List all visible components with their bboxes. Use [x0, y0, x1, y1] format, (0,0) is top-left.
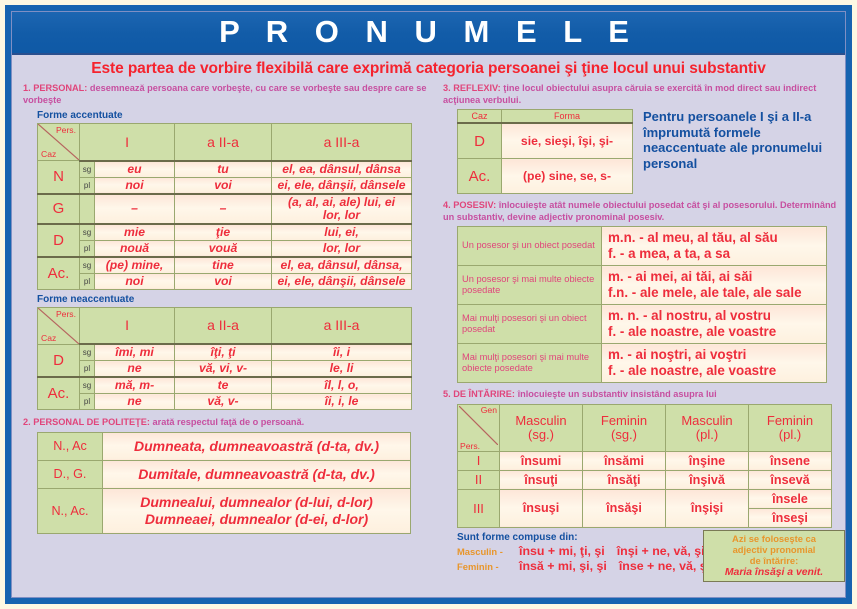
case-label: N., Ac — [38, 432, 103, 460]
case-label: D — [38, 344, 80, 377]
cell-value: – — [175, 194, 272, 224]
person-label: I — [458, 451, 500, 470]
table-row: Ac.sg(pe) mine,tineel, ea, dânsul, dânsa… — [38, 257, 412, 274]
cell-value: însuţi — [500, 470, 583, 489]
table-row: Un posesor şi un obiect posedatm.n. - al… — [458, 227, 827, 266]
table-forme-neaccentuate: Pers.CazIa II-aa III-aDsgîmi, miîţi, ţiî… — [37, 307, 412, 411]
table-row: plnevă, v-îi, i, le — [38, 394, 412, 410]
cell-value: înşivă — [666, 470, 749, 489]
compound-forms-block: Sunt forme compuse din: Masculin -însu +… — [457, 532, 845, 573]
cell-value: îi, i, le — [272, 394, 412, 410]
header-gender-2: Masculin(pl.) — [666, 404, 749, 451]
section-5-heading: 5. DE ÎNTĂRIRE: înlocuieşte un substanti… — [443, 389, 845, 401]
table-corner-cell: Pers.Caz — [38, 124, 80, 161]
table-header-row: GenPers.Masculin(sg.)Feminin(sg.)Masculi… — [458, 404, 832, 451]
case-label: N., Ac. — [38, 488, 103, 533]
cell-value: însele — [749, 489, 832, 508]
case-label: D — [458, 123, 502, 159]
table-row: IIînsuţiînsăţiînşivăînsevă — [458, 470, 832, 489]
section-2-number: 2. — [23, 417, 31, 427]
section-5-description: înlocuieşte un substantiv insistând asup… — [518, 389, 717, 399]
cell-value: Dumnealui, dumnealor (d-lui, d-lor)Dumne… — [103, 488, 411, 533]
table-posesiv: Un posesor şi un obiect posedatm.n. - al… — [457, 226, 827, 383]
cell-value: înşine — [666, 451, 749, 470]
table-row: Mai mulţi posesori şi mai multe obiecte … — [458, 344, 827, 383]
usage-note-example: Maria însăşi a venit. — [706, 567, 842, 578]
cell-value: mă, m- — [95, 377, 175, 394]
cell-value: tine — [175, 257, 272, 274]
header-gender-1: Feminin(sg.) — [583, 404, 666, 451]
cell-value: tu — [175, 161, 272, 178]
table-row: Ac.(pe) sine, se, s- — [458, 159, 633, 194]
cell-value: (a, al, ai, ale) lui, eilor, lor — [272, 194, 412, 224]
section-2-description: arată respectul faţă de o persoană. — [153, 417, 305, 427]
table-row: plnouăvouălor, lor — [38, 240, 412, 257]
table-row: Dsgmieţielui, ei, — [38, 224, 412, 241]
possessor-label: Un posesor şi un obiect posedat — [458, 227, 602, 266]
poster: P R O N U M E L E Este partea de vorbire… — [5, 5, 852, 604]
table-row: Mai mulţi posesori şi un obiect posedatm… — [458, 305, 827, 344]
cell-value: te — [175, 377, 272, 394]
section-2-heading: 2. PERSONAL DE POLITEŢE: arată respectul… — [23, 417, 435, 429]
cell-value: lor, lor — [272, 240, 412, 257]
cell-value: însămi — [583, 451, 666, 470]
cell-value: m. - ai mei, ai tăi, ai săif.n. - ale me… — [602, 266, 827, 305]
cell-value: m. n. - al nostru, al vostruf. - ale noa… — [602, 305, 827, 344]
section-4-number: 4. — [443, 200, 451, 210]
number-label: pl — [80, 177, 95, 194]
usage-note-line-2: de întărire: — [706, 555, 842, 566]
header-pers-1: I — [80, 307, 175, 344]
table-corner-cell: Pers.Caz — [38, 307, 80, 344]
section-5-number: 5. — [443, 389, 451, 399]
number-label: pl — [80, 361, 95, 378]
table-row: Dsie, sieşi, îşi, şi- — [458, 123, 633, 159]
cell-value: le, li — [272, 361, 412, 378]
cell-value: însuşi — [500, 489, 583, 527]
person-label: III — [458, 489, 500, 527]
possessor-label: Mai mulţi posesori şi un obiect posedat — [458, 305, 602, 344]
section-2-name: PERSONAL DE POLITEŢE: — [33, 417, 150, 427]
cell-value: ei, ele, dânşii, dânsele — [272, 273, 412, 289]
case-label: Ac. — [38, 377, 80, 410]
cell-value: m.n. - al meu, al tău, al săuf. - a mea,… — [602, 227, 827, 266]
cell-value: sie, sieşi, îşi, şi- — [502, 123, 633, 159]
content-columns: 1. PERSONAL: desemnează persoana care vo… — [11, 83, 846, 598]
number-label — [80, 194, 95, 224]
cell-value: ne — [95, 394, 175, 410]
case-label: Ac. — [458, 159, 502, 194]
compound-form-2: înşi + ne, vă, şi — [617, 544, 705, 558]
cell-value: eu — [95, 161, 175, 178]
section-1-number: 1. — [23, 83, 31, 93]
cell-value: însene — [749, 451, 832, 470]
header-pers-3: a III-a — [272, 307, 412, 344]
table-row: Dsgîmi, miîţi, ţiîi, i — [38, 344, 412, 361]
table-personal-politete: N., AcDumneata, dumneavoastră (d-ta, dv.… — [37, 432, 411, 534]
cell-value: (pe) sine, se, s- — [502, 159, 633, 194]
usage-note-box: Azi se foloseşte ca adjectiv pronomial d… — [703, 530, 845, 583]
table-row: D., G.Dumitale, dumneavoastră (d-ta, dv.… — [38, 460, 411, 488]
caption-forme-accentuate: Forme accentuate — [37, 110, 435, 121]
cell-value: voi — [175, 177, 272, 194]
cell-value: înseşi — [749, 508, 832, 527]
section-3-number: 3. — [443, 83, 451, 93]
left-column: 1. PERSONAL: desemnează persoana care vo… — [23, 83, 435, 534]
table-de-intarire: GenPers.Masculin(sg.)Feminin(sg.)Masculi… — [457, 404, 832, 528]
section-4-description: înlocuieşte atât numele obiectului posed… — [443, 200, 836, 222]
cell-value: îţi, ţi — [175, 344, 272, 361]
number-label: sg — [80, 161, 95, 178]
cell-value: însăţi — [583, 470, 666, 489]
cell-value: noi — [95, 273, 175, 289]
cell-value: îmi, mi — [95, 344, 175, 361]
cell-value: ne — [95, 361, 175, 378]
case-label: N — [38, 161, 80, 194]
number-label: sg — [80, 257, 95, 274]
cell-value: – — [95, 194, 175, 224]
number-label: pl — [80, 273, 95, 289]
case-label: D., G. — [38, 460, 103, 488]
poster-title-bar: P R O N U M E L E — [11, 11, 846, 55]
number-label: sg — [80, 377, 95, 394]
compound-gender: Masculin - — [457, 546, 519, 557]
section-1-heading: 1. PERSONAL: desemnează persoana care vo… — [23, 83, 435, 106]
right-column: 3. REFLEXIV: ţine locul obiectului asupr… — [443, 83, 845, 573]
case-label: D — [38, 224, 80, 257]
compound-form-1: însu + mi, ţi, şi — [519, 544, 605, 558]
section-4-name: POSESIV: — [453, 200, 496, 210]
cell-value: el, ea, dânsul, dânsa — [272, 161, 412, 178]
table-row: Ac.sgmă, m-teîl, l, o, — [38, 377, 412, 394]
header-forma: Forma — [502, 110, 633, 124]
table-header-row: Pers.CazIa II-aa III-a — [38, 124, 412, 161]
compound-form-1: însă + mi, şi, şi — [519, 559, 607, 573]
section-1-name: PERSONAL: — [33, 83, 87, 93]
table-row: IIIînsuşiînsăşiînşişiînsele — [458, 489, 832, 508]
table-row: N., Ac.Dumnealui, dumnealor (d-lui, d-lo… — [38, 488, 411, 533]
cell-value: însevă — [749, 470, 832, 489]
possessor-label: Mai mulţi posesori şi mai multe obiecte … — [458, 344, 602, 383]
cell-value: vă, v- — [175, 394, 272, 410]
table-row: G––(a, al, ai, ale) lui, eilor, lor — [38, 194, 412, 224]
cell-value: ţie — [175, 224, 272, 241]
cell-value: noi — [95, 177, 175, 194]
header-caz: Caz — [458, 110, 502, 124]
section-3-name: REFLEXIV: — [453, 83, 500, 93]
cell-value: el, ea, dânsul, dânsa, — [272, 257, 412, 274]
section-4-heading: 4. POSESIV: înlocuieşte atât numele obie… — [443, 200, 845, 223]
cell-value: îi, i — [272, 344, 412, 361]
cell-value: vă, vi, v- — [175, 361, 272, 378]
person-label: II — [458, 470, 500, 489]
possessor-label: Un posesor şi mai multe obiecte posedate — [458, 266, 602, 305]
number-label: sg — [80, 344, 95, 361]
header-pers-1: I — [80, 124, 175, 161]
table-row: plnevă, vi, v-le, li — [38, 361, 412, 378]
number-label: pl — [80, 394, 95, 410]
table-row: Iînsumiînsămiînşineînsene — [458, 451, 832, 470]
table-row: Nsgeutuel, ea, dânsul, dânsa — [38, 161, 412, 178]
cell-value: Dumitale, dumneavoastră (d-ta, dv.) — [103, 460, 411, 488]
table-row: plnoivoiei, ele, dânşii, dânsele — [38, 177, 412, 194]
cell-value: ei, ele, dânşii, dânsele — [272, 177, 412, 194]
table-row: Un posesor şi mai multe obiecte posedate… — [458, 266, 827, 305]
reflexiv-note: Pentru persoanele I şi a II-a împrumută … — [633, 109, 845, 171]
table-forme-accentuate: Pers.CazIa II-aa III-aNsgeutuel, ea, dân… — [37, 123, 412, 290]
cell-value: Dumneata, dumneavoastră (d-ta, dv.) — [103, 432, 411, 460]
section-3-heading: 3. REFLEXIV: ţine locul obiectului asupr… — [443, 83, 845, 106]
table-row: N., AcDumneata, dumneavoastră (d-ta, dv.… — [38, 432, 411, 460]
page-title: P R O N U M E L E — [219, 14, 638, 50]
cell-value: înşişi — [666, 489, 749, 527]
cell-value: nouă — [95, 240, 175, 257]
cell-value: însumi — [500, 451, 583, 470]
poster-subtitle: Este partea de vorbire flexibilă care ex… — [11, 55, 846, 81]
case-label: Ac. — [38, 257, 80, 290]
usage-note-line-1: adjectiv pronomial — [706, 544, 842, 555]
cell-value: îl, l, o, — [272, 377, 412, 394]
header-pers-2: a II-a — [175, 307, 272, 344]
cell-value: voi — [175, 273, 272, 289]
cell-value: lui, ei, — [272, 224, 412, 241]
cell-value: (pe) mine, — [95, 257, 175, 274]
header-pers-3: a III-a — [272, 124, 412, 161]
table-header-row: Pers.CazIa II-aa III-a — [38, 307, 412, 344]
number-label: sg — [80, 224, 95, 241]
usage-note-line-0: Azi se foloseşte ca — [706, 533, 842, 544]
header-gender-3: Feminin(pl.) — [749, 404, 832, 451]
cell-value: vouă — [175, 240, 272, 257]
section-5-name: DE ÎNTĂRIRE: — [453, 389, 515, 399]
table-header-row: CazForma — [458, 110, 633, 124]
header-gender-0: Masculin(sg.) — [500, 404, 583, 451]
table-row: plnoivoiei, ele, dânşii, dânsele — [38, 273, 412, 289]
header-pers-2: a II-a — [175, 124, 272, 161]
cell-value: însăşi — [583, 489, 666, 527]
number-label: pl — [80, 240, 95, 257]
caption-forme-neaccentuate: Forme neaccentuate — [37, 294, 435, 305]
compound-gender: Feminin - — [457, 561, 519, 572]
cell-value: m. - ai noştri, ai voştrif. - ale noastr… — [602, 344, 827, 383]
table-reflexiv: CazFormaDsie, sieşi, îşi, şi-Ac.(pe) sin… — [457, 109, 633, 194]
case-label: G — [38, 194, 80, 224]
table-corner-cell: GenPers. — [458, 404, 500, 451]
cell-value: mie — [95, 224, 175, 241]
